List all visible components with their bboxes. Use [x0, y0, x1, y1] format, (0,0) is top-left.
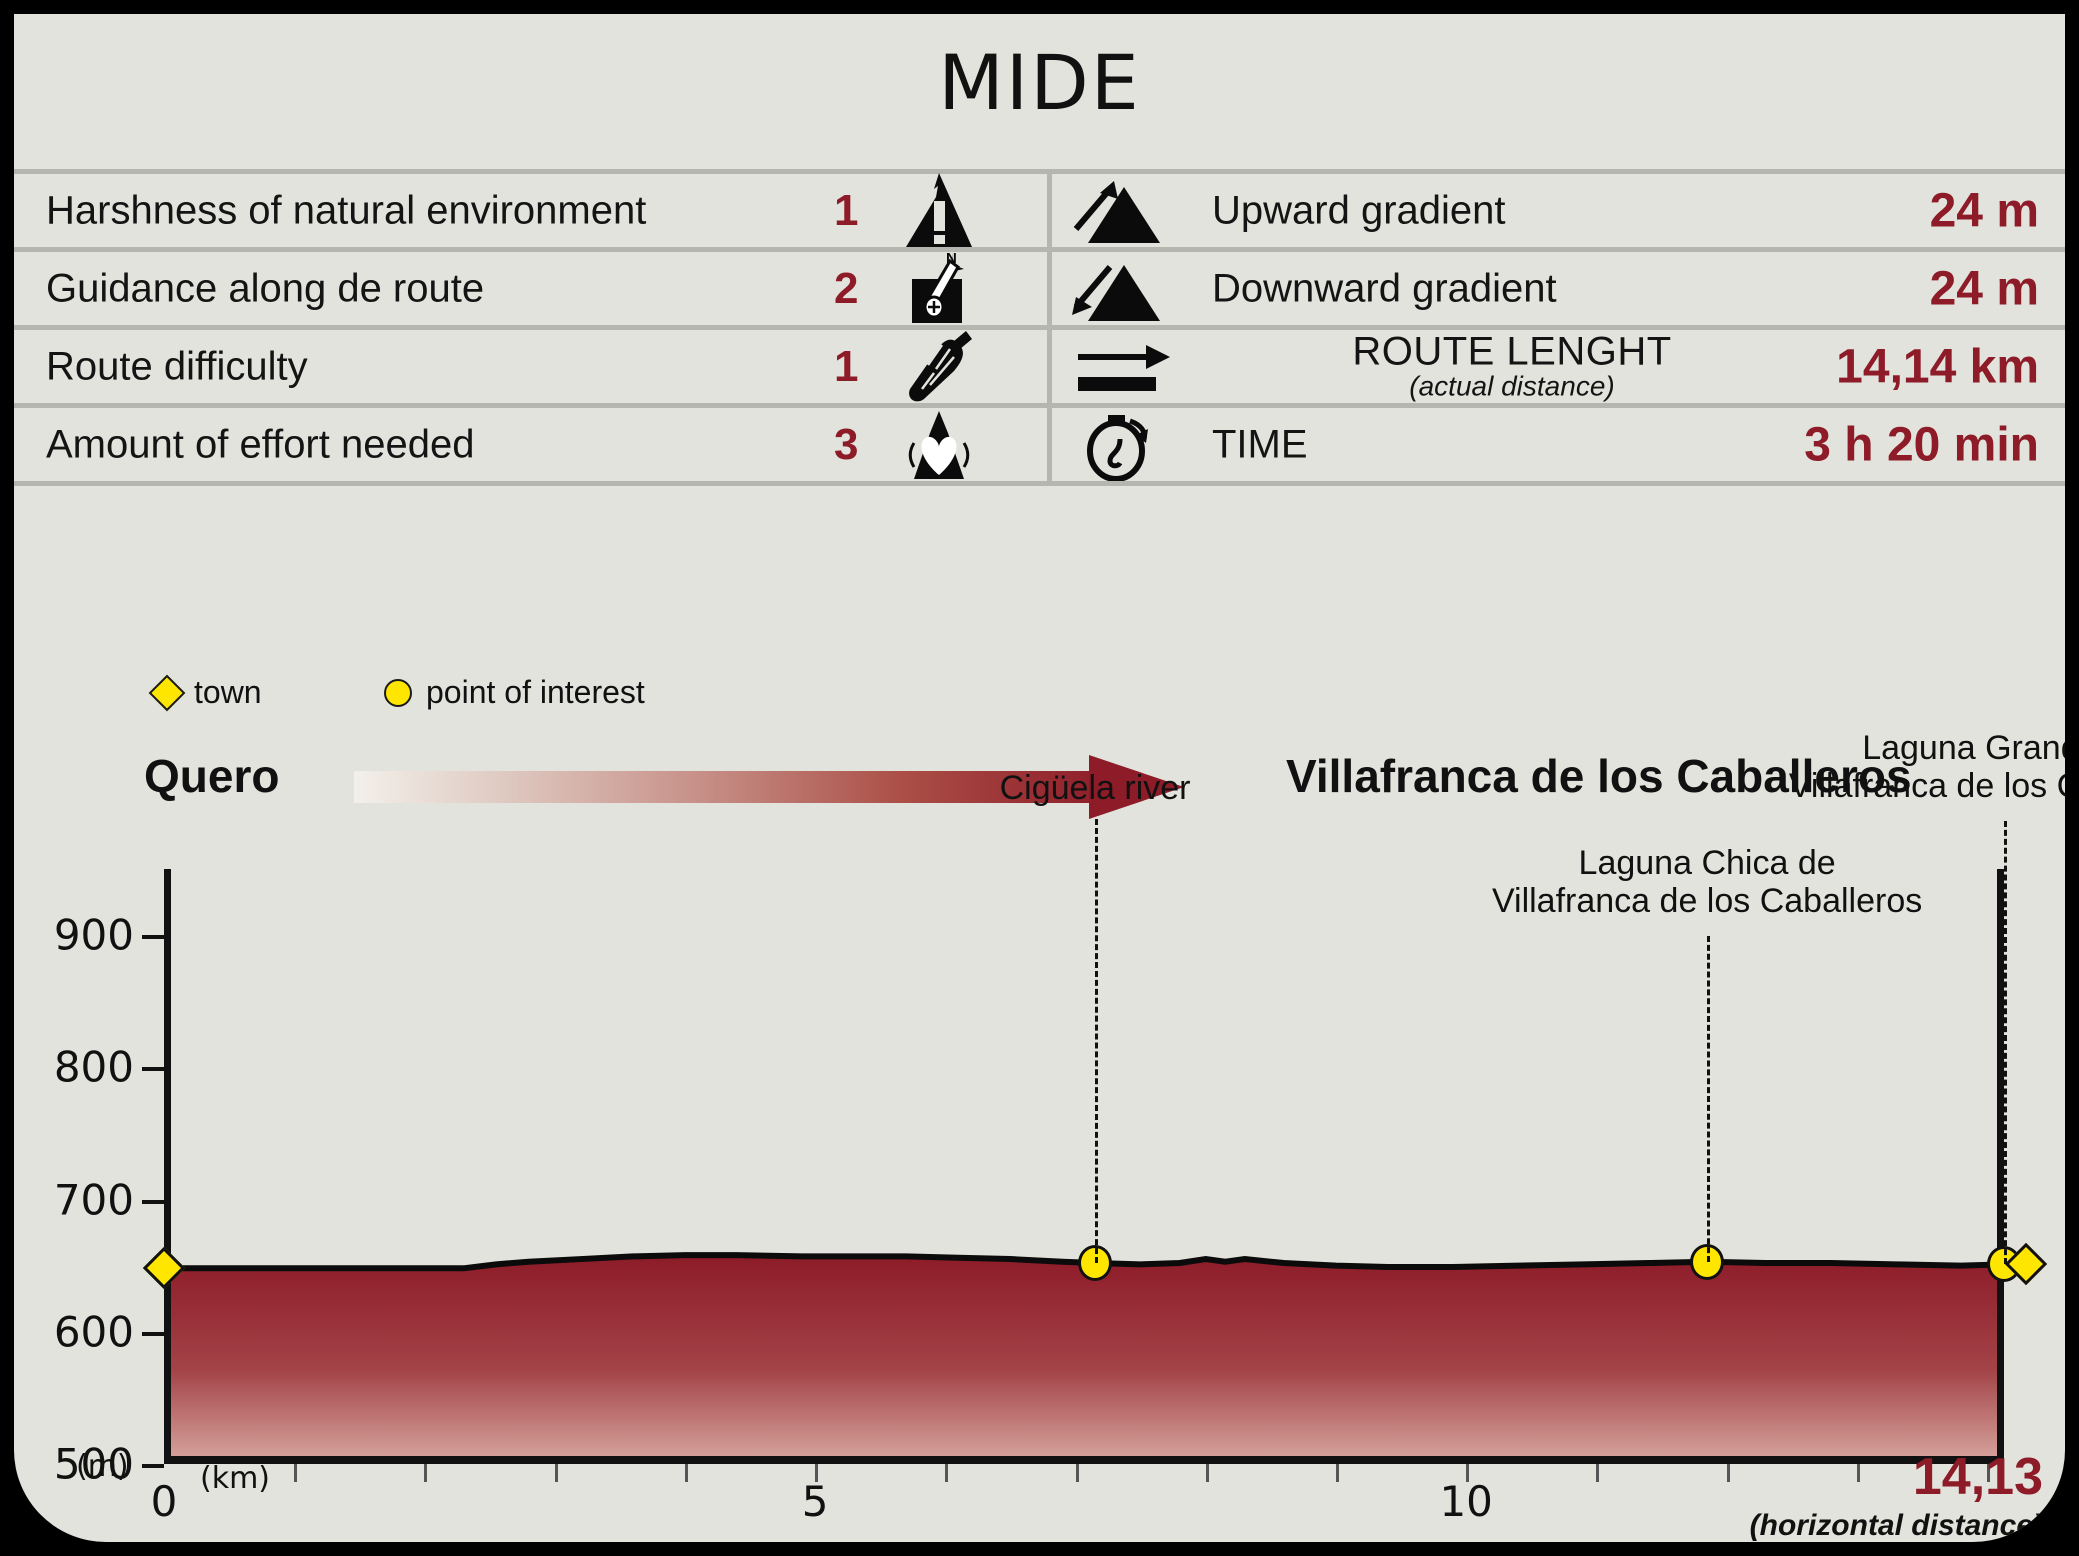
- route-origin: Quero: [144, 749, 279, 803]
- metric-row-length: ROUTE LENGHT (actual distance) 14,14 km: [1052, 330, 2065, 403]
- metric-label: Upward gradient: [1212, 188, 1506, 233]
- criterion-value: 3: [834, 420, 858, 470]
- x-axis-unit-label: (km): [200, 1461, 270, 1496]
- criterion-label: Route difficulty: [46, 344, 308, 389]
- total-distance-value: 14,13: [1913, 1447, 2043, 1507]
- annotation-label: Cigüela river: [1000, 769, 1191, 807]
- x-tick-label: 10: [1439, 1477, 1492, 1526]
- y-axis-right: [1997, 869, 2004, 1464]
- chart-legend: town point of interest: [14, 674, 2065, 734]
- x-tick: [1596, 1464, 1599, 1482]
- compass-map-icon: N: [894, 251, 984, 327]
- x-tick: [294, 1464, 297, 1482]
- criterion-value: 1: [834, 342, 858, 392]
- x-tick: [1857, 1464, 1860, 1482]
- y-tick-label: 900: [54, 911, 134, 960]
- x-tick: [424, 1464, 427, 1482]
- y-axis-unit-label: (m): [76, 1449, 129, 1484]
- hiking-boot-icon: [894, 329, 984, 405]
- annotation-leader-line: [1095, 819, 1098, 1263]
- mide-card: MIDE Harshness of natural environment 1: [0, 0, 2079, 1556]
- horizontal-distance-note: (horizontal distance): [1750, 1509, 2043, 1542]
- town-diamond-icon: [149, 674, 186, 711]
- x-tick: [685, 1464, 688, 1482]
- metric-label: ROUTE LENGHT: [1212, 331, 1812, 371]
- table-divider: [14, 481, 2065, 486]
- mide-panel: MIDE Harshness of natural environment 1: [14, 14, 2065, 1542]
- mountain-up-icon: [1068, 175, 1188, 247]
- metric-label: Downward gradient: [1212, 266, 1557, 311]
- metric-row-time: TIME 3 h 20 min: [1052, 408, 2065, 481]
- page-title: MIDE: [14, 38, 2065, 127]
- annotation-label: Laguna Grande deVillafranca de los Cabal…: [1789, 729, 2065, 805]
- y-tick: [142, 1464, 164, 1468]
- heart-effort-icon: [894, 407, 984, 483]
- criterion-label: Harshness of natural environment: [46, 188, 646, 233]
- criterion-value: 2: [834, 264, 858, 314]
- metric-label: TIME: [1212, 422, 1308, 467]
- x-tick: [945, 1464, 948, 1482]
- criterion-row-guidance: Guidance along de route 2 N: [14, 252, 1047, 325]
- elevation-area: [164, 869, 2004, 1464]
- metric-value: 24 m: [1930, 183, 2039, 238]
- y-tick-label: 700: [54, 1175, 134, 1224]
- criterion-label: Amount of effort needed: [46, 422, 474, 467]
- elevation-profile-chart: 500600700800900 0510 Cigüela riverLaguna…: [14, 849, 2065, 1542]
- metric-value: 3 h 20 min: [1804, 417, 2039, 472]
- annotation-leader-line: [2004, 821, 2007, 1264]
- poi-circle-icon: [384, 679, 412, 707]
- metric-row-upward: Upward gradient 24 m: [1052, 174, 2065, 247]
- criterion-label: Guidance along de route: [46, 266, 484, 311]
- legend-item-poi: point of interest: [384, 674, 645, 711]
- metric-value: 24 m: [1930, 261, 2039, 316]
- x-tick-label: 5: [802, 1477, 829, 1526]
- mountain-down-icon: [1068, 253, 1188, 325]
- y-tick: [142, 1200, 164, 1204]
- metric-value: 14,14 km: [1836, 339, 2039, 394]
- annotation-label: Laguna Chica deVillafranca de los Caball…: [1492, 844, 1922, 920]
- y-tick: [142, 1067, 164, 1071]
- x-tick: [1206, 1464, 1209, 1482]
- y-tick: [142, 1332, 164, 1336]
- y-tick-label: 600: [54, 1307, 134, 1356]
- criterion-row-effort: Amount of effort needed 3: [14, 408, 1047, 481]
- x-tick: [1727, 1464, 1730, 1482]
- x-tick: [1336, 1464, 1339, 1482]
- criterion-value: 1: [834, 186, 858, 236]
- x-tick-label: 0: [151, 1477, 178, 1526]
- legend-item-town: town: [154, 674, 262, 711]
- stopwatch-icon: [1068, 409, 1188, 481]
- x-tick: [555, 1464, 558, 1482]
- warning-triangle-icon: [894, 173, 984, 249]
- y-axis-left: [164, 869, 171, 1464]
- metric-sublabel: (actual distance): [1212, 371, 1812, 402]
- metric-label-block: ROUTE LENGHT (actual distance): [1212, 331, 1812, 402]
- mide-table: Harshness of natural environment 1 Guida…: [14, 169, 2065, 486]
- x-axis: [164, 1456, 2004, 1464]
- legend-label: point of interest: [426, 674, 645, 711]
- y-tick: [142, 935, 164, 939]
- plot-area: 500600700800900 0510 Cigüela riverLaguna…: [164, 869, 2004, 1464]
- criterion-row-harshness: Harshness of natural environment 1: [14, 174, 1047, 247]
- y-tick-label: 800: [54, 1043, 134, 1092]
- legend-label: town: [194, 674, 262, 711]
- annotation-leader-line: [1707, 936, 1710, 1262]
- x-tick: [1076, 1464, 1079, 1482]
- criterion-row-difficulty: Route difficulty 1: [14, 330, 1047, 403]
- arrow-ruler-icon: [1068, 331, 1188, 403]
- metric-row-downward: Downward gradient 24 m: [1052, 252, 2065, 325]
